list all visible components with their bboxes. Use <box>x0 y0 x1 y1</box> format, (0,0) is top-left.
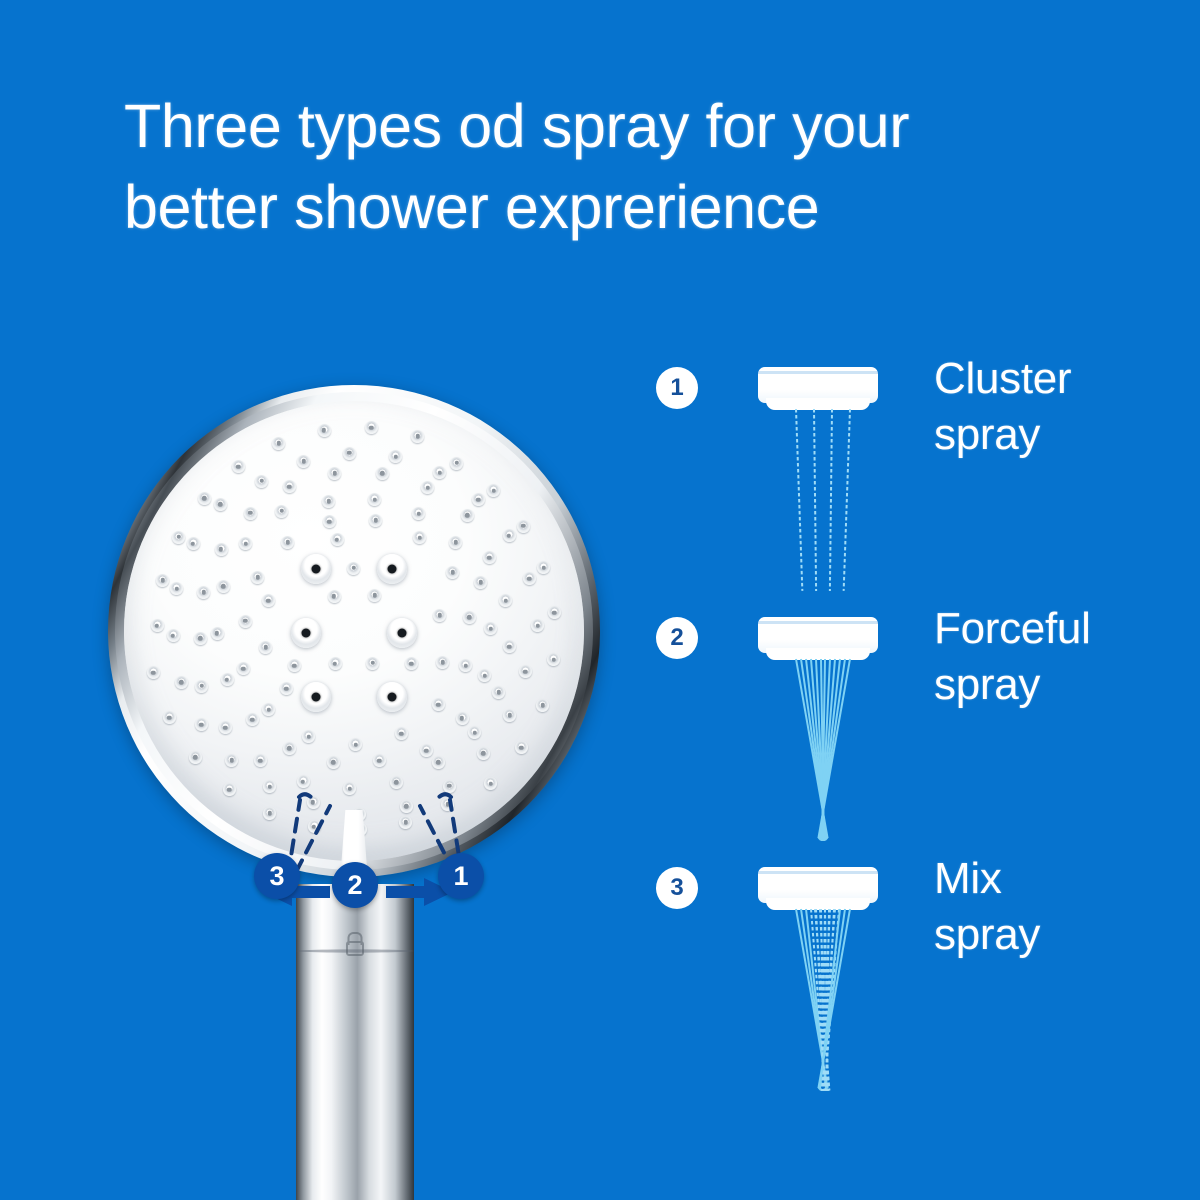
nozzle <box>239 615 252 628</box>
lock-icon <box>346 932 364 956</box>
nozzle <box>175 676 188 689</box>
nozzle <box>484 622 497 635</box>
nozzle <box>263 780 276 793</box>
nozzle <box>151 619 164 632</box>
nozzle <box>187 537 200 550</box>
spray-streams <box>732 659 912 841</box>
nozzle <box>478 669 491 682</box>
legend-item-cluster-spray: 1 Cluster spray <box>652 355 1172 605</box>
nozzle <box>349 738 362 751</box>
nozzle <box>195 718 208 731</box>
nozzle <box>548 606 561 619</box>
nozzle <box>195 680 208 693</box>
nozzle <box>322 495 335 508</box>
nozzle <box>255 475 268 488</box>
nozzle <box>463 611 476 624</box>
nozzle <box>376 467 389 480</box>
nozzle <box>244 507 257 520</box>
spray-streams <box>732 909 912 1091</box>
nozzle <box>395 727 408 740</box>
nozzle <box>446 566 459 579</box>
nozzle <box>517 520 530 533</box>
nozzle <box>499 594 512 607</box>
nozzle <box>411 430 424 443</box>
nozzle <box>281 536 294 549</box>
nozzle <box>368 589 381 602</box>
nozzle <box>323 515 336 528</box>
nozzle <box>449 536 462 549</box>
nozzle <box>262 594 275 607</box>
nozzle <box>450 457 463 470</box>
nozzle <box>328 590 341 603</box>
shower-handle <box>296 884 414 1200</box>
nozzle <box>254 754 267 767</box>
nozzle <box>547 653 560 666</box>
nozzle <box>433 466 446 479</box>
nozzle <box>283 480 296 493</box>
nozzle <box>262 703 275 716</box>
nozzle <box>329 657 342 670</box>
shower-head-cluster-icon <box>732 363 912 593</box>
nozzle <box>194 632 207 645</box>
nozzle <box>211 627 224 640</box>
nozzle <box>441 798 454 811</box>
nozzle <box>503 529 516 542</box>
legend-badge-1: 1 <box>656 367 698 409</box>
nozzle <box>302 730 315 743</box>
nozzle <box>523 572 536 585</box>
large-nozzle <box>387 618 417 648</box>
nozzle <box>221 673 234 686</box>
mode-badge-1[interactable]: 1 <box>438 853 484 899</box>
legend-item-mix-spray: 3 Mix spray <box>652 855 1172 1105</box>
nozzle <box>328 467 341 480</box>
nozzle <box>436 656 449 669</box>
nozzle <box>283 742 296 755</box>
nozzle <box>400 800 413 813</box>
water-stream <box>795 409 803 591</box>
spray-disc <box>758 867 878 903</box>
nozzle <box>365 421 378 434</box>
spray-disc <box>758 367 878 403</box>
nozzle <box>343 782 356 795</box>
nozzle <box>456 712 469 725</box>
nozzle <box>503 640 516 653</box>
nozzle <box>459 659 472 672</box>
nozzle <box>531 619 544 632</box>
water-stream <box>829 409 833 591</box>
nozzle <box>263 807 276 820</box>
nozzle <box>343 447 356 460</box>
nozzle <box>474 576 487 589</box>
nozzle <box>483 551 496 564</box>
nozzle <box>537 561 550 574</box>
large-nozzle <box>377 682 407 712</box>
nozzle <box>420 744 433 757</box>
nozzle <box>147 666 160 679</box>
nozzle <box>297 775 310 788</box>
nozzle <box>503 709 516 722</box>
nozzle <box>156 574 169 587</box>
nozzle <box>318 424 331 437</box>
nozzle <box>223 783 236 796</box>
nozzle <box>536 699 549 712</box>
shower-head-illustration <box>108 385 600 877</box>
nozzle <box>170 582 183 595</box>
large-nozzle <box>301 554 331 584</box>
spray-disc <box>758 617 878 653</box>
nozzle <box>237 662 250 675</box>
page-title: Three types od spray for your better sho… <box>124 86 1104 247</box>
legend-badge-2: 2 <box>656 617 698 659</box>
large-nozzle <box>377 554 407 584</box>
nozzle <box>366 657 379 670</box>
nozzle <box>214 498 227 511</box>
nozzle <box>487 484 500 497</box>
water-stream <box>843 409 851 591</box>
spray-modes-legend: 1 Cluster spray 2 Forceful spray 3 Mix s… <box>652 355 1172 1105</box>
shower-head-face <box>124 401 584 861</box>
nozzle <box>215 543 228 556</box>
nozzle <box>373 754 386 767</box>
nozzle <box>399 816 412 829</box>
nozzle <box>413 531 426 544</box>
nozzle <box>197 586 210 599</box>
nozzle <box>275 505 288 518</box>
nozzle <box>331 533 344 546</box>
nozzle <box>232 460 245 473</box>
nozzle <box>389 450 402 463</box>
large-nozzle <box>291 618 321 648</box>
nozzle <box>443 780 456 793</box>
nozzle <box>308 820 321 833</box>
nozzle <box>461 509 474 522</box>
nozzle <box>251 571 264 584</box>
nozzle <box>280 682 293 695</box>
water-stream <box>813 409 817 591</box>
nozzle <box>433 609 446 622</box>
legend-label-forceful-spray: Forceful spray <box>934 601 1174 714</box>
nozzle <box>189 751 202 764</box>
legend-badge-3: 3 <box>656 867 698 909</box>
nozzle <box>421 481 434 494</box>
mode-badge-2[interactable]: 2 <box>332 862 378 908</box>
nozzle <box>492 686 505 699</box>
nozzle <box>198 492 211 505</box>
nozzle <box>219 721 232 734</box>
nozzle <box>477 747 490 760</box>
nozzle <box>472 493 485 506</box>
nozzle <box>519 665 532 678</box>
nozzle <box>307 796 320 809</box>
nozzle <box>468 726 481 739</box>
nozzle <box>246 713 259 726</box>
nozzle <box>167 629 180 642</box>
nozzle <box>390 776 403 789</box>
nozzle <box>347 562 360 575</box>
spray-streams <box>732 409 912 591</box>
nozzle-field <box>124 401 584 861</box>
nozzle <box>288 659 301 672</box>
legend-label-mix-spray: Mix spray <box>934 851 1174 964</box>
nozzle <box>412 507 425 520</box>
shower-head-mix-icon <box>732 863 912 1093</box>
shower-head-forceful-icon <box>732 613 912 843</box>
product-infographic-poster: Three types od spray for your better sho… <box>0 0 1200 1200</box>
nozzle <box>432 756 445 769</box>
nozzle <box>172 531 185 544</box>
nozzle <box>272 437 285 450</box>
nozzle <box>405 657 418 670</box>
nozzle <box>225 754 238 767</box>
nozzle <box>368 493 381 506</box>
nozzle <box>484 777 497 790</box>
legend-label-cluster-spray: Cluster spray <box>934 351 1174 464</box>
nozzle <box>369 514 382 527</box>
nozzle <box>217 580 230 593</box>
nozzle <box>432 698 445 711</box>
large-nozzle <box>301 682 331 712</box>
legend-item-forceful-spray: 2 Forceful spray <box>652 605 1172 855</box>
nozzle <box>297 455 310 468</box>
nozzle <box>239 537 252 550</box>
nozzle <box>515 741 528 754</box>
nozzle <box>327 756 340 769</box>
nozzle <box>259 641 272 654</box>
nozzle <box>163 711 176 724</box>
mode-badge-3[interactable]: 3 <box>254 853 300 899</box>
